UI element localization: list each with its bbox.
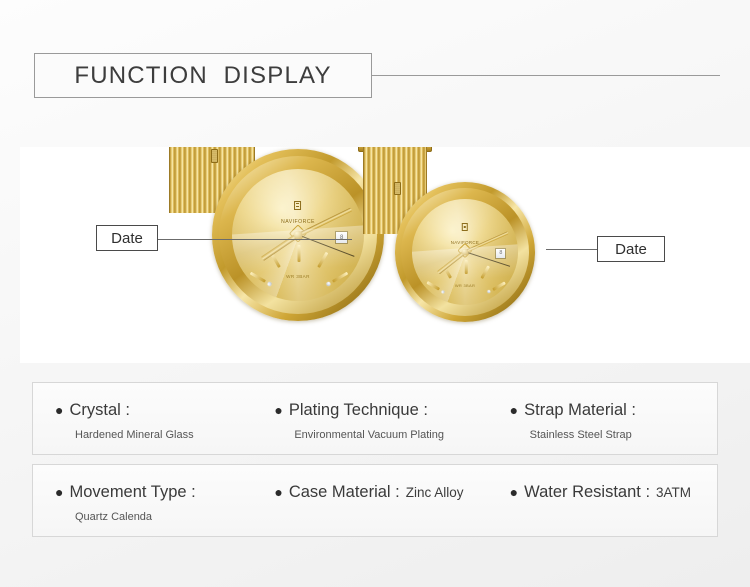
spec-row-2: ● Movement Type : Quartz Calenda ● Case …	[32, 464, 718, 537]
hour-marker	[413, 304, 466, 305]
spec-label-text: Strap Material :	[524, 401, 636, 420]
spec-label: ● Case Material : Zinc Alloy	[274, 483, 501, 502]
spec-label-text: Plating Technique :	[289, 401, 428, 420]
callout-label: Date	[615, 241, 647, 258]
hour-hand	[437, 250, 466, 274]
date-window-right: 8	[495, 248, 506, 259]
center-pin	[462, 249, 469, 256]
date-value: 8	[499, 251, 502, 256]
page-header: FUNCTION DISPLAY	[0, 53, 750, 99]
crown-right	[394, 182, 401, 195]
spec-value-text: 3ATM	[656, 485, 691, 500]
callout-leader-line-left	[158, 239, 352, 240]
water-resistance-text: WR 3BAR	[286, 274, 310, 279]
second-hand	[298, 234, 355, 257]
watch-case-left: NAVIFORCE 8 WR 3BAR	[212, 149, 384, 321]
spec-label-text: Movement Type :	[69, 483, 195, 502]
brand-logo-left: NAVIFORCE	[281, 201, 315, 227]
spec-row-1: ● Crystal : Hardened Mineral Glass ● Pla…	[32, 382, 718, 455]
callout-label: Date	[111, 230, 143, 247]
hour-marker	[465, 252, 467, 305]
callout-leader-line-right	[546, 249, 597, 250]
spec-label: ● Crystal :	[55, 401, 264, 420]
spec-label: ● Plating Technique :	[274, 401, 501, 420]
spec-cell-water-resistant: ● Water Resistant : 3ATM	[502, 465, 717, 536]
crown-emblem-icon	[295, 201, 302, 210]
second-hand	[465, 251, 511, 267]
spec-cell-strap-material: ● Strap Material : Stainless Steel Strap	[502, 383, 717, 454]
title-divider-line	[372, 75, 720, 76]
spec-label-text: Water Resistant :	[524, 483, 650, 502]
bullet-icon: ●	[510, 485, 518, 499]
spec-value-text: Stainless Steel Strap	[530, 429, 717, 441]
spec-value-text: Hardened Mineral Glass	[75, 429, 264, 441]
spec-value-text: Quartz Calenda	[75, 511, 264, 523]
hour-marker	[299, 300, 364, 301]
bullet-icon: ●	[274, 485, 282, 499]
spec-value-text: Environmental Vacuum Plating	[294, 429, 501, 441]
bullet-icon: ●	[510, 403, 518, 417]
watch-dial-right: NAVIFORCE 8 WR 3BAR	[412, 199, 518, 305]
watch-case-right: NAVIFORCE 8 WR 3BAR	[395, 182, 535, 322]
spec-cell-plating-technique: ● Plating Technique : Environmental Vacu…	[264, 383, 501, 454]
hour-marker	[233, 300, 299, 301]
callout-date-left: Date	[96, 225, 158, 251]
water-resistance-text: WR 3BAR	[455, 283, 475, 288]
hour-marker	[466, 304, 518, 305]
crown-left	[211, 149, 218, 163]
spec-cell-movement-type: ● Movement Type : Quartz Calenda	[33, 465, 264, 536]
date-window-left: 8	[335, 231, 348, 244]
watch-dial-left: NAVIFORCE 8 WR 3BAR	[232, 169, 364, 301]
watch-bezel-left: NAVIFORCE 8 WR 3BAR	[219, 156, 377, 314]
spec-cell-crystal: ● Crystal : Hardened Mineral Glass	[33, 383, 264, 454]
spec-label-text: Case Material :	[289, 483, 400, 502]
chevron-emblem-icon	[289, 224, 307, 242]
callout-date-right: Date	[597, 236, 665, 262]
spec-label-text: Crystal :	[69, 401, 130, 420]
crown-emblem-icon	[462, 223, 468, 231]
spec-label: ● Water Resistant : 3ATM	[510, 483, 717, 502]
spec-label: ● Strap Material :	[510, 401, 717, 420]
page-title-box: FUNCTION DISPLAY	[34, 53, 372, 98]
hour-marker	[298, 235, 300, 301]
page-title: FUNCTION DISPLAY	[74, 62, 331, 90]
spec-label: ● Movement Type :	[55, 483, 264, 502]
bullet-icon: ●	[55, 403, 63, 417]
spec-cell-case-material: ● Case Material : Zinc Alloy	[264, 465, 501, 536]
watch-bezel-right: NAVIFORCE 8 WR 3BAR	[401, 188, 529, 316]
bullet-icon: ●	[274, 403, 282, 417]
bullet-icon: ●	[55, 485, 63, 499]
spec-value-text: Zinc Alloy	[406, 485, 464, 500]
hour-hand	[261, 233, 300, 261]
